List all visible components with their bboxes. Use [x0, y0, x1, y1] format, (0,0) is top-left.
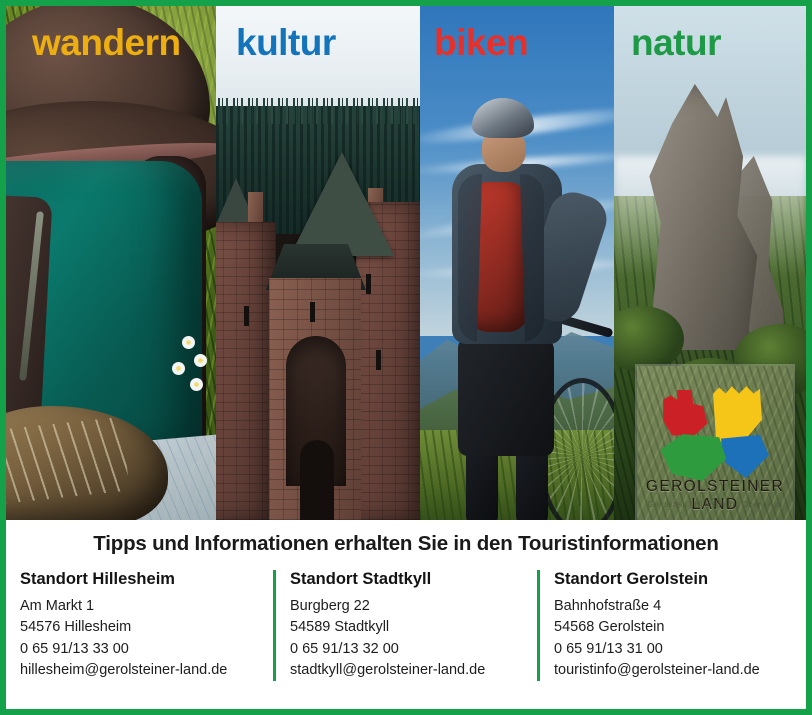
daisy-flower: [172, 362, 185, 375]
hero-panel-kultur[interactable]: kultur: [216, 6, 420, 520]
location-street: Burgberg 22: [290, 596, 523, 617]
daisy-flower: [194, 354, 207, 367]
contact-columns: Standort Hillesheim Am Markt 1 54576 Hil…: [6, 556, 806, 681]
hero-label-natur: natur: [631, 24, 721, 61]
cyclist-leg: [466, 446, 498, 520]
cyclist-leg: [516, 446, 548, 520]
arrow-slit-window: [244, 306, 249, 326]
contact-column-stadtkyll: Standort Stadtkyll Burgberg 22 54589 Sta…: [273, 570, 537, 681]
location-name: Standort Gerolstein: [554, 570, 792, 589]
arrow-slit-window: [366, 274, 371, 294]
logo-shape-blue-water-icon: [721, 434, 771, 480]
location-city: 54568 Gerolstein: [554, 617, 792, 638]
footer-contact-section: Tipps und Informationen erhalten Sie in …: [6, 520, 806, 709]
location-phone[interactable]: 0 65 91/13 33 00: [20, 639, 259, 660]
logo-mark: [655, 376, 775, 474]
hero-image-band: wandern kultur: [6, 6, 806, 520]
boot-laces: [6, 417, 129, 505]
hero-panel-biken[interactable]: biken: [420, 6, 614, 520]
hero-label-kultur: kultur: [236, 24, 336, 61]
castle-turret-roof-main: [290, 152, 394, 256]
location-phone[interactable]: 0 65 91/13 32 00: [290, 639, 523, 660]
location-email[interactable]: touristinfo@gerolsteiner-land.de: [554, 660, 792, 681]
advertisement-card: wandern kultur: [0, 0, 812, 715]
location-phone[interactable]: 0 65 91/13 31 00: [554, 639, 792, 660]
location-city: 54576 Hillesheim: [20, 617, 259, 638]
hero-label-wandern: wandern: [32, 24, 181, 61]
gerolsteiner-land-logo[interactable]: GEROLSTEINER LAND Gerolstein | Hilleshei…: [637, 366, 793, 520]
location-street: Am Markt 1: [20, 596, 259, 617]
daisy-flower: [190, 378, 203, 391]
contact-column-gerolstein: Standort Gerolstein Bahnhofstraße 4 5456…: [537, 570, 792, 681]
logo-shape-yellow-castle-icon: [711, 380, 763, 442]
location-email[interactable]: hillesheim@gerolsteiner-land.de: [20, 660, 259, 681]
arrow-slit-window: [310, 302, 315, 322]
location-name: Standort Stadtkyll: [290, 570, 523, 589]
footer-headline: Tipps und Informationen erhalten Sie in …: [6, 520, 806, 556]
cyclist-shorts: [458, 336, 554, 456]
logo-subtitle: Gerolstein | Hillesheim | Obere Kyll: [637, 500, 793, 509]
daisy-flower: [182, 336, 195, 349]
location-city: 54589 Stadtkyll: [290, 617, 523, 638]
hero-panel-wandern[interactable]: wandern: [6, 6, 216, 520]
arrow-slit-window: [376, 350, 381, 370]
location-email[interactable]: stadtkyll@gerolsteiner-land.de: [290, 660, 523, 681]
contact-column-hillesheim: Standort Hillesheim Am Markt 1 54576 Hil…: [20, 570, 273, 681]
hero-label-biken: biken: [434, 24, 528, 61]
castle-tower-left: [216, 222, 276, 520]
castle-doorway: [300, 440, 334, 520]
location-street: Bahnhofstraße 4: [554, 596, 792, 617]
location-name: Standort Hillesheim: [20, 570, 259, 589]
treeline: [216, 98, 420, 124]
